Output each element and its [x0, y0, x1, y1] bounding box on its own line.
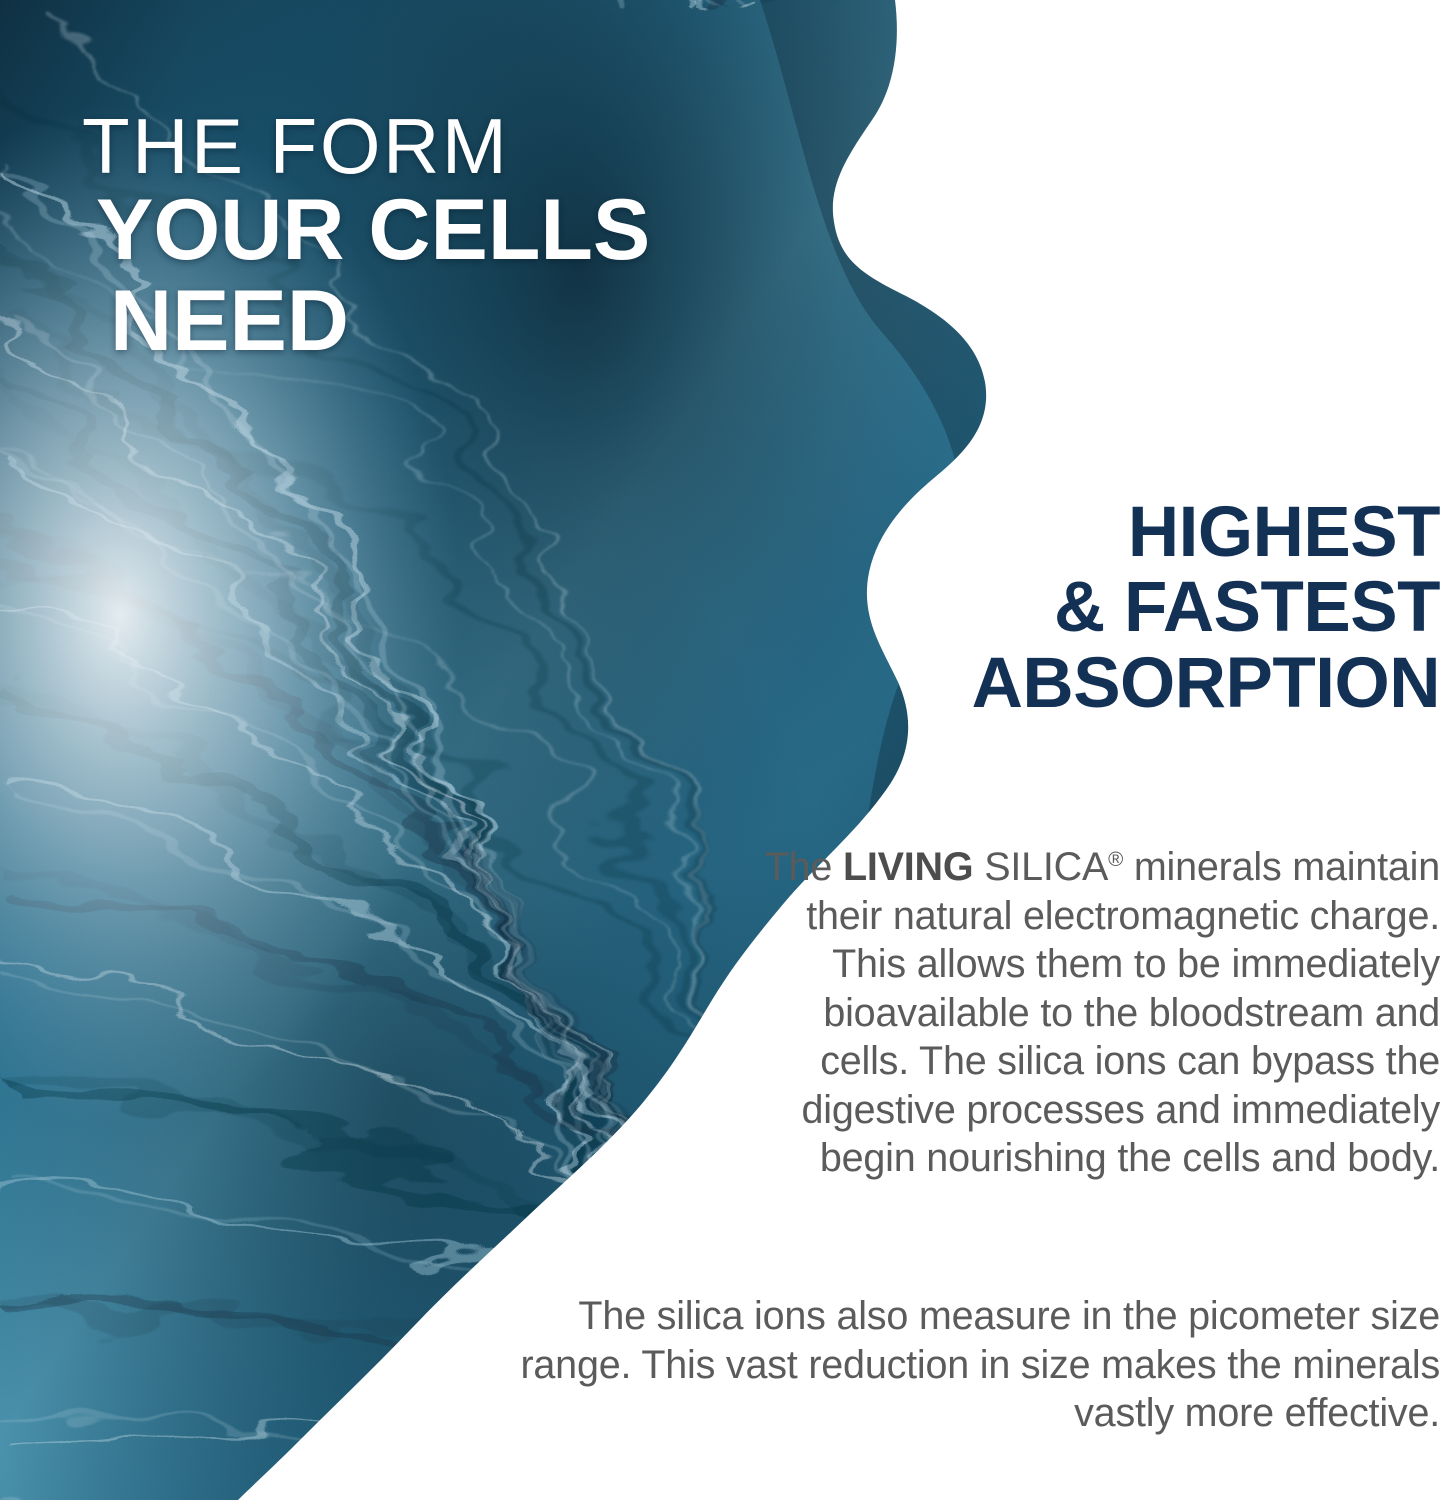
- headline-line-need: NEED: [80, 279, 880, 363]
- registered-trademark-icon: ®: [1108, 848, 1123, 871]
- brand-word-living: LIVING: [843, 845, 973, 889]
- paragraph-1-tail: minerals maintain their natural electrom…: [802, 845, 1440, 1180]
- paragraph-1-lead: The: [765, 845, 843, 889]
- headline-line-your-cells: YOUR CELLS: [80, 188, 880, 272]
- absorption-heading-line-3: ABSORPTION: [800, 646, 1440, 721]
- left-headline-block: THE FORM YOUR CELLS NEED: [80, 108, 880, 363]
- body-copy-paragraph-1-wrap: The LIVING SILICA® minerals maintain the…: [740, 843, 1440, 1183]
- brand-word-silica: SILICA: [973, 845, 1108, 889]
- headline-line-the-form: THE FORM: [80, 108, 880, 184]
- right-content-column: HIGHEST & FASTEST ABSORPTION The LIVING …: [800, 0, 1440, 1500]
- absorption-heading-line-2: & FASTEST: [800, 570, 1440, 645]
- absorption-heading-line-1: HIGHEST: [800, 495, 1440, 570]
- body-copy-paragraph-2-wrap: The silica ions also measure in the pico…: [500, 1292, 1440, 1438]
- body-paragraph-2: The silica ions also measure in the pico…: [500, 1292, 1440, 1438]
- absorption-heading: HIGHEST & FASTEST ABSORPTION: [800, 495, 1440, 721]
- body-paragraph-1: The LIVING SILICA® minerals maintain the…: [740, 843, 1440, 1183]
- product-infographic-page: THE FORM YOUR CELLS NEED HIGHEST & FASTE…: [0, 0, 1447, 1500]
